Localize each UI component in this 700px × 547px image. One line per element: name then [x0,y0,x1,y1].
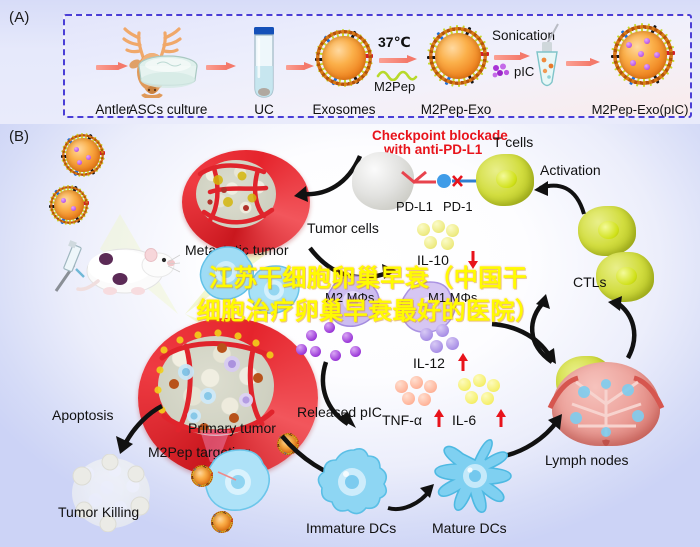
released-pic-dot [296,344,307,355]
label-il-12: IL-12 [413,355,445,371]
label-pd-1: PD-1 [443,199,473,214]
macrophage-blue-2 [246,264,306,316]
released-pic-dot [306,330,317,341]
il10-dot [417,223,430,236]
panel-b-label: (B) [9,128,29,145]
tnfa-dot [424,380,437,393]
il6-dot [458,378,471,391]
tnfa-dot [402,392,415,405]
m2pep-exosome-pic-particle [610,22,676,88]
arrow-lymph-to-ctl-right [600,292,646,362]
stage-caption-ascs: ASCs culture [129,102,208,117]
arrow-activation [528,176,592,220]
stage-m2pep-exo-pic: M2Pep-Exo(pIC) [592,16,688,116]
il10-dot [441,237,454,250]
label-il-6: IL-6 [452,412,476,428]
il12-dot [430,340,443,353]
label-m1-macrophages: M1 MΦs [428,290,477,305]
arrow-m2pepexo-to-pic [494,52,530,61]
il12-dot [420,328,433,341]
il12-dot [436,324,449,337]
exosome-particle [314,28,374,88]
il-12-up-arrow-icon [456,352,470,372]
label-pd-l1: PD-L1 [396,199,433,214]
released-pic-dot [310,346,321,357]
label-apoptosis: Apoptosis [52,407,113,423]
label-ctls: CTLs [573,274,606,290]
il10-dot [432,220,445,233]
arrow-cytokines-to-lymph-upper [488,320,560,366]
il12-dot [446,337,459,350]
label-t-cells: T cells [493,134,533,150]
il10-dot [424,236,437,249]
tnfa-dot [410,376,423,389]
dying-tumor-illustration [68,454,154,532]
sonicator-probe-icon [528,22,566,92]
stage-ascs-culture: ASCs culture [124,30,212,116]
stage-caption-m2pep-exo-pic: M2Pep-Exo(pIC) [592,102,689,117]
targeting-nanoparticle-2 [190,464,214,488]
stage-caption-m2pep-exo: M2Pep-Exo [421,102,492,117]
stage-caption-exosomes: Exosomes [312,102,375,117]
temperature-label: 37℃ [378,34,411,51]
il6-dot [487,379,500,392]
il6-dot [465,391,478,404]
stage-m2pep-exo: M2Pep-Exo [410,18,502,116]
released-pic-dot [342,332,353,343]
tumor-vasculature [180,146,296,242]
arrow-pic-to-dc [316,358,382,432]
stage-uc: UC [236,22,292,116]
il6-dot [473,374,486,387]
label-tumor-cells: Tumor cells [307,220,379,236]
tnf-alpha-up-arrow-icon [432,408,446,428]
m2pep-exosome-particle [426,24,490,88]
mouse-illustration [50,229,180,309]
panel-a: (A) [0,0,700,124]
scientific-figure: (A) [0,0,700,547]
syringe-icon [56,240,84,291]
released-pic-dot [324,322,335,333]
label-m2-macrophages: M2 MΦs [325,290,374,305]
tnfa-dot [395,380,408,393]
immature-dc-cell [316,446,392,518]
targeting-nanoparticle-3 [210,510,234,534]
mature-dc-cell [432,434,518,518]
il10-dot [446,224,459,237]
il6-dot [481,392,494,405]
pic-cluster-icon [492,63,510,79]
centrifuge-tube-icon [247,26,281,100]
panel-a-label: (A) [9,9,30,26]
metastatic-tumor-illustration [180,146,296,242]
stage-caption-uc: UC [254,102,274,117]
tnfa-dot [418,393,431,406]
apoptotic-blebs [68,454,154,532]
label-tnf-alpha: TNF-α [382,412,422,428]
nanoparticle-1 [60,132,106,178]
label-primary-tumor: Primary tumor [188,420,276,436]
m1-macrophage-purple [398,280,462,336]
il-10-down-arrow-icon [466,250,480,270]
label-il-10: IL-10 [417,252,449,268]
panel-b: (B) [0,124,700,547]
arrow-culture-to-uc [206,62,236,71]
label-immature-dcs: Immature DCs [306,520,396,536]
nanoparticle-2 [48,184,90,226]
label-mature-dcs: Mature DCs [432,520,507,536]
label-tumor-killing: Tumor Killing [58,504,139,520]
t-cell-1 [476,154,534,206]
released-pic-dot [350,346,361,357]
petri-dish-icon [124,44,212,102]
stage-exosomes: Exosomes [306,22,382,116]
